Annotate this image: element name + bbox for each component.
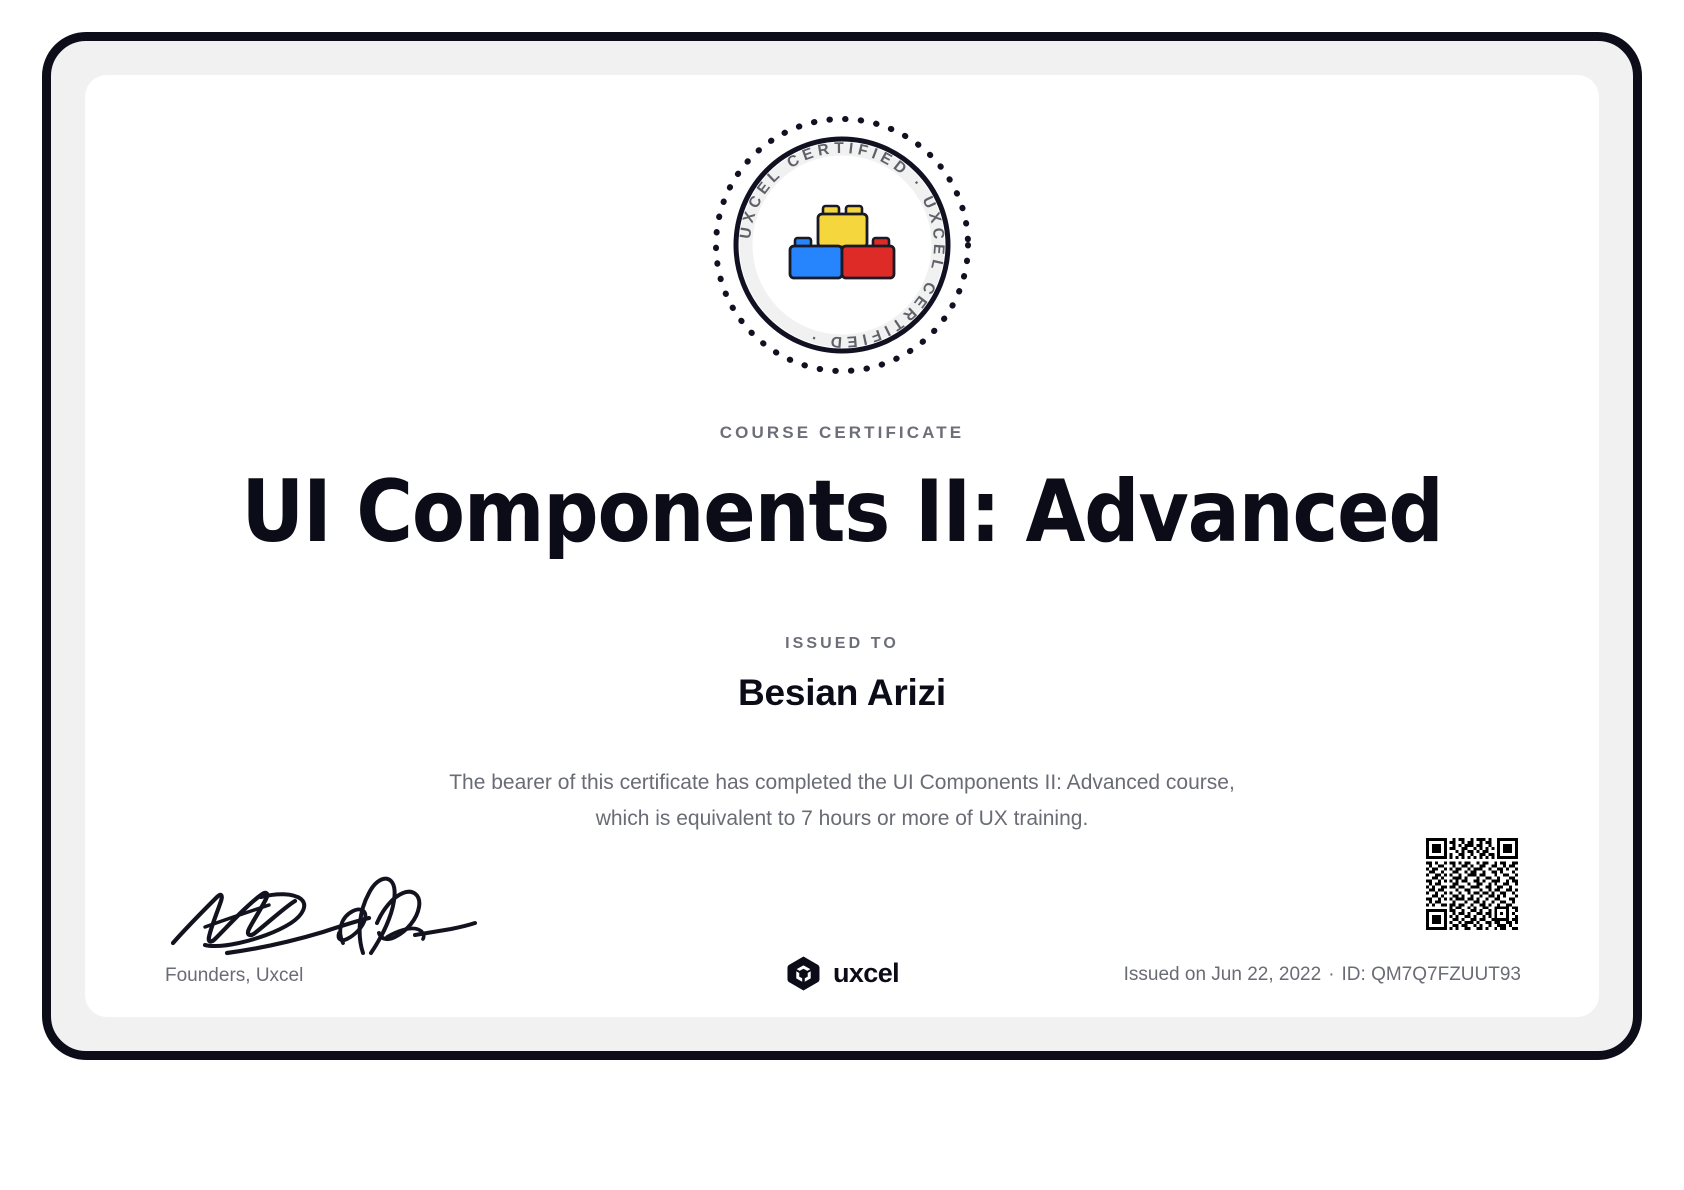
founder-signatures bbox=[165, 831, 495, 961]
certificate-card: UXCEL CERTIFIED · UXCEL CERTIFIED · bbox=[85, 75, 1599, 1017]
course-title: UI Components II: Advanced bbox=[85, 467, 1599, 558]
certificate-type-label: COURSE CERTIFICATE bbox=[85, 423, 1599, 443]
issued-on-date: Issued on Jun 22, 2022 bbox=[1124, 964, 1322, 985]
recipient-name: Besian Arizi bbox=[85, 672, 1599, 714]
meta-separator: · bbox=[1321, 964, 1341, 985]
certificate-frame: UXCEL CERTIFIED · UXCEL CERTIFIED · bbox=[42, 32, 1642, 1060]
verification-qr-code[interactable] bbox=[1423, 835, 1521, 933]
certificate-meta: Issued on Jun 22, 2022·ID: QM7Q7FZUUT93 bbox=[1124, 964, 1521, 986]
certificate-page: UXCEL CERTIFIED · UXCEL CERTIFIED · bbox=[0, 0, 1684, 1190]
uxcel-certified-badge: UXCEL CERTIFIED · UXCEL CERTIFIED · bbox=[708, 111, 976, 379]
issued-to-label: ISSUED TO bbox=[85, 635, 1599, 653]
signature-caption: Founders, Uxcel bbox=[165, 965, 303, 987]
uxcel-brand-lockup: uxcel bbox=[785, 955, 899, 992]
certificate-id: ID: QM7Q7FZUUT93 bbox=[1342, 964, 1521, 985]
uxcel-hexagon-cube-logo bbox=[785, 955, 822, 992]
certificate-description: The bearer of this certificate has compl… bbox=[442, 765, 1242, 837]
uxcel-wordmark: uxcel bbox=[833, 958, 899, 989]
